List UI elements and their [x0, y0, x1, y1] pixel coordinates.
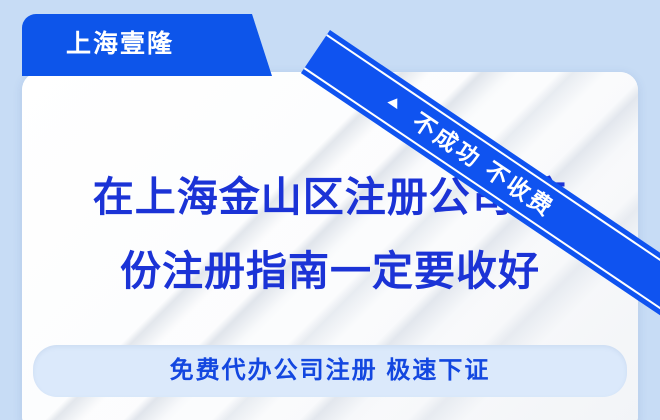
triangle-up-icon [387, 95, 402, 109]
brand-tab[interactable]: 上海壹隆 [22, 14, 272, 76]
promo-banner: 在上海金山区注册公司 这 份注册指南一定要收好 免费代办公司注册 极速下证 上海… [0, 0, 660, 420]
content-card: 在上海金山区注册公司 这 份注册指南一定要收好 免费代办公司注册 极速下证 [22, 72, 638, 420]
brand-tab-label: 上海壹隆 [66, 14, 174, 76]
cta-pill[interactable]: 免费代办公司注册 极速下证 [33, 345, 627, 397]
cta-pill-label: 免费代办公司注册 极速下证 [33, 345, 627, 397]
headline-line-2: 份注册指南一定要收好 [22, 234, 638, 308]
